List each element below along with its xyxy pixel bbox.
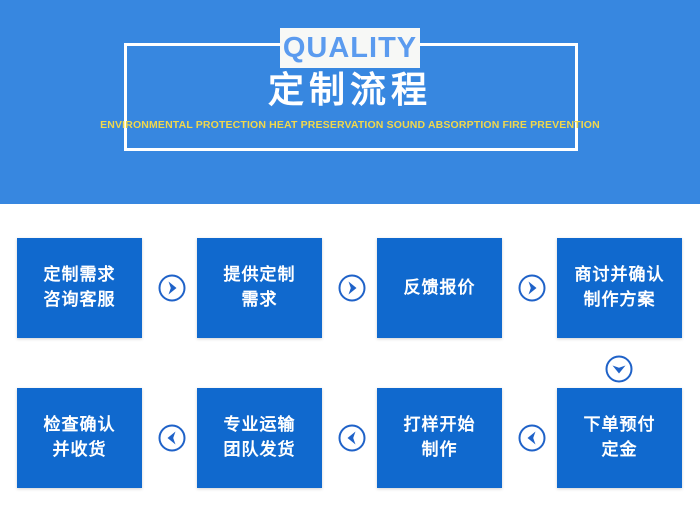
step-label-line2: 需求 — [242, 290, 278, 309]
step-box: 打样开始 制作 — [377, 388, 502, 488]
step-label-line1: 下单预付 — [584, 415, 656, 434]
step-label-line1: 检查确认 — [44, 415, 116, 434]
process-flow: 定制需求 咨询客服 提供定制 需求 反馈报价 — [0, 204, 700, 515]
page-title: 定制流程 — [0, 70, 700, 110]
chevron-left-circle-icon — [337, 423, 367, 453]
step-box: 定制需求 咨询客服 — [17, 238, 142, 338]
banner-subtitle: ENVIRONMENTAL PROTECTION HEAT PRESERVATI… — [0, 119, 700, 131]
step-label: 提供定制 需求 — [224, 263, 296, 312]
process-row-1: 定制需求 咨询客服 提供定制 需求 反馈报价 — [0, 238, 700, 338]
step-box: 检查确认 并收货 — [17, 388, 142, 488]
chevron-right-circle-icon — [517, 273, 547, 303]
chevron-right-circle-icon — [157, 273, 187, 303]
chevron-left-circle-icon — [517, 423, 547, 453]
header-banner: QUALITY 定制流程 ENVIRONMENTAL PROTECTION HE… — [0, 0, 700, 204]
step-label: 检查确认 并收货 — [44, 413, 116, 462]
chevron-down-circle-icon — [604, 354, 634, 384]
step-box: 提供定制 需求 — [197, 238, 322, 338]
step-box: 专业运输 团队发货 — [197, 388, 322, 488]
step-label-line1: 商讨并确认 — [575, 265, 665, 284]
step-label-line1: 专业运输 — [224, 415, 296, 434]
step-box: 下单预付 定金 — [557, 388, 682, 488]
step-label-line1: 反馈报价 — [404, 278, 476, 297]
step-label-line2: 并收货 — [53, 440, 107, 459]
step-label: 商讨并确认 制作方案 — [575, 263, 665, 312]
step-label-line1: 定制需求 — [44, 265, 116, 284]
step-label: 打样开始 制作 — [404, 413, 476, 462]
step-box: 反馈报价 — [377, 238, 502, 338]
quality-chip: QUALITY — [280, 28, 420, 68]
step-label-line2: 制作 — [422, 440, 458, 459]
step-label-line2: 咨询客服 — [44, 290, 116, 309]
chevron-left-circle-icon — [157, 423, 187, 453]
step-label: 下单预付 定金 — [584, 413, 656, 462]
step-label-line2: 定金 — [602, 440, 638, 459]
step-label-line1: 提供定制 — [224, 265, 296, 284]
step-box: 商讨并确认 制作方案 — [557, 238, 682, 338]
quality-chip-label: QUALITY — [283, 34, 417, 63]
chevron-right-circle-icon — [337, 273, 367, 303]
step-label: 专业运输 团队发货 — [224, 413, 296, 462]
step-label-line1: 打样开始 — [404, 415, 476, 434]
step-label-line2: 制作方案 — [584, 290, 656, 309]
step-label-line2: 团队发货 — [224, 440, 296, 459]
step-label: 定制需求 咨询客服 — [44, 263, 116, 312]
step-label: 反馈报价 — [404, 276, 476, 301]
process-row-2: 检查确认 并收货 专业运输 团队发货 打样开始 — [0, 388, 700, 488]
